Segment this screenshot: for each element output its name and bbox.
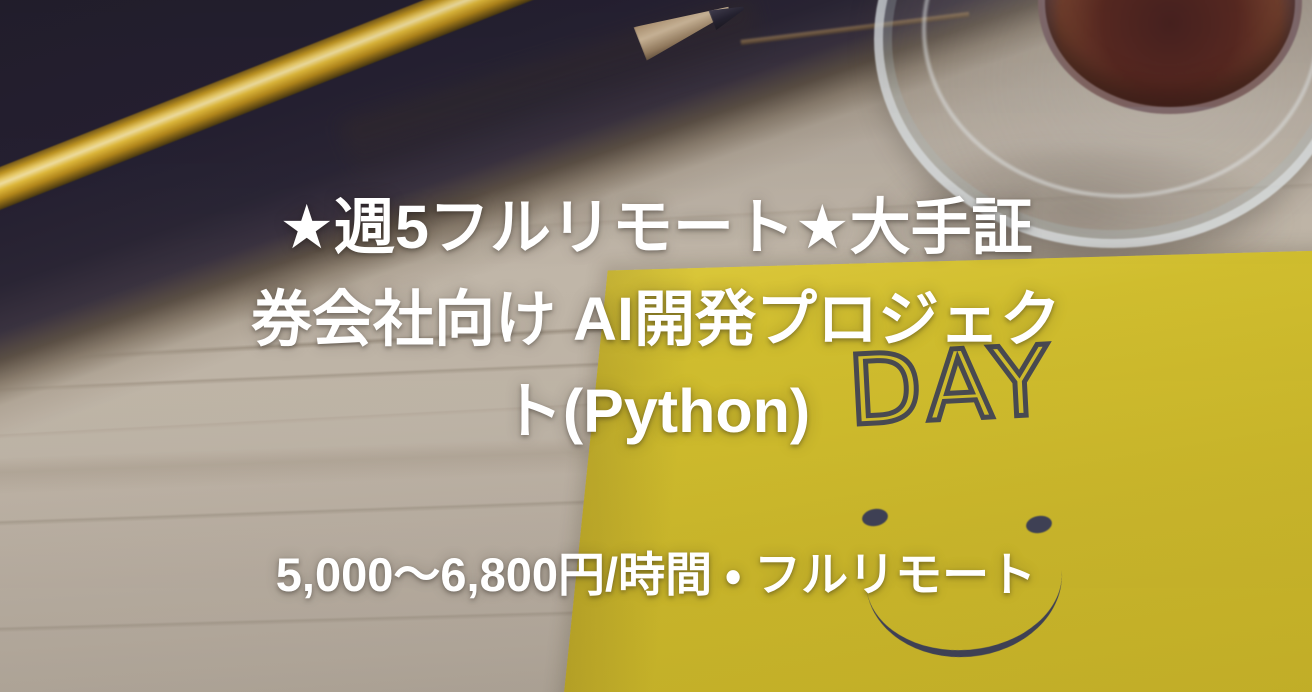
banner-headline: ★週5フルリモート★大手証券会社向け AI開発プロジェクト(Python) [0, 181, 1312, 457]
banner-text-overlay: ★週5フルリモート★大手証券会社向け AI開発プロジェクト(Python) 5,… [0, 0, 1312, 692]
banner-subheadline: 5,000〜6,800円/時間 ・ フルリモート [0, 546, 1312, 604]
job-banner: DAY ★週5フルリモート★大手証券会社向け AI開発プロジェクト(Python… [0, 0, 1312, 692]
